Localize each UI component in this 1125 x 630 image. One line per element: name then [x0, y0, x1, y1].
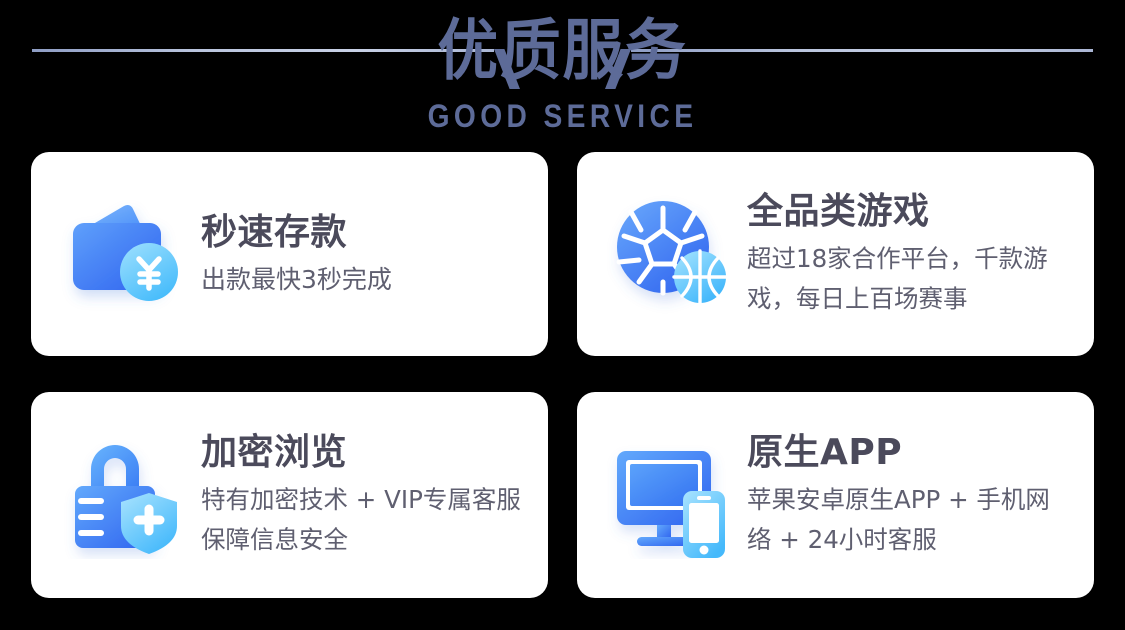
feature-card-desc: 特有加密技术 + VIP专属客服保障信息安全 [201, 480, 526, 560]
feature-card-text: 全品类游戏 超过18家合作平台，千款游戏，每日上百场赛事 [747, 189, 1072, 319]
lock-shield-icon [61, 431, 189, 559]
feature-card-title: 加密浏览 [201, 430, 526, 476]
feature-card-desc: 出款最快3秒完成 [201, 260, 526, 299]
feature-card-native-app[interactable]: 原生APP 苹果安卓原生APP + 手机网络 + 24小时客服 [577, 392, 1094, 598]
feature-card-title: 秒速存款 [201, 210, 526, 256]
soccer-basketball-icon [607, 190, 735, 318]
monitor-phone-icon [607, 431, 735, 559]
banner-header: 优质服务 GOOD SERVICE [0, 0, 1125, 145]
feature-card-deposit[interactable]: 秒速存款 出款最快3秒完成 [31, 152, 548, 356]
feature-card-title: 全品类游戏 [747, 189, 1072, 235]
feature-card-title: 原生APP [747, 430, 1072, 476]
feature-card-text: 原生APP 苹果安卓原生APP + 手机网络 + 24小时客服 [747, 430, 1072, 560]
feature-card-desc: 超过18家合作平台，千款游戏，每日上百场赛事 [747, 239, 1072, 319]
feature-card-encryption[interactable]: 加密浏览 特有加密技术 + VIP专属客服保障信息安全 [31, 392, 548, 598]
feature-card-desc: 苹果安卓原生APP + 手机网络 + 24小时客服 [747, 480, 1072, 560]
promo-banner: 优质服务 GOOD SERVICE [0, 0, 1125, 630]
feature-card-text: 加密浏览 特有加密技术 + VIP专属客服保障信息安全 [201, 430, 526, 560]
page-title: 优质服务 [45, 8, 1080, 94]
wallet-yen-icon [61, 190, 189, 318]
feature-card-grid: 秒速存款 出款最快3秒完成 [31, 152, 1094, 598]
feature-card-text: 秒速存款 出款最快3秒完成 [201, 210, 526, 299]
page-subtitle: GOOD SERVICE [68, 98, 1058, 134]
feature-card-games[interactable]: 全品类游戏 超过18家合作平台，千款游戏，每日上百场赛事 [577, 152, 1094, 356]
